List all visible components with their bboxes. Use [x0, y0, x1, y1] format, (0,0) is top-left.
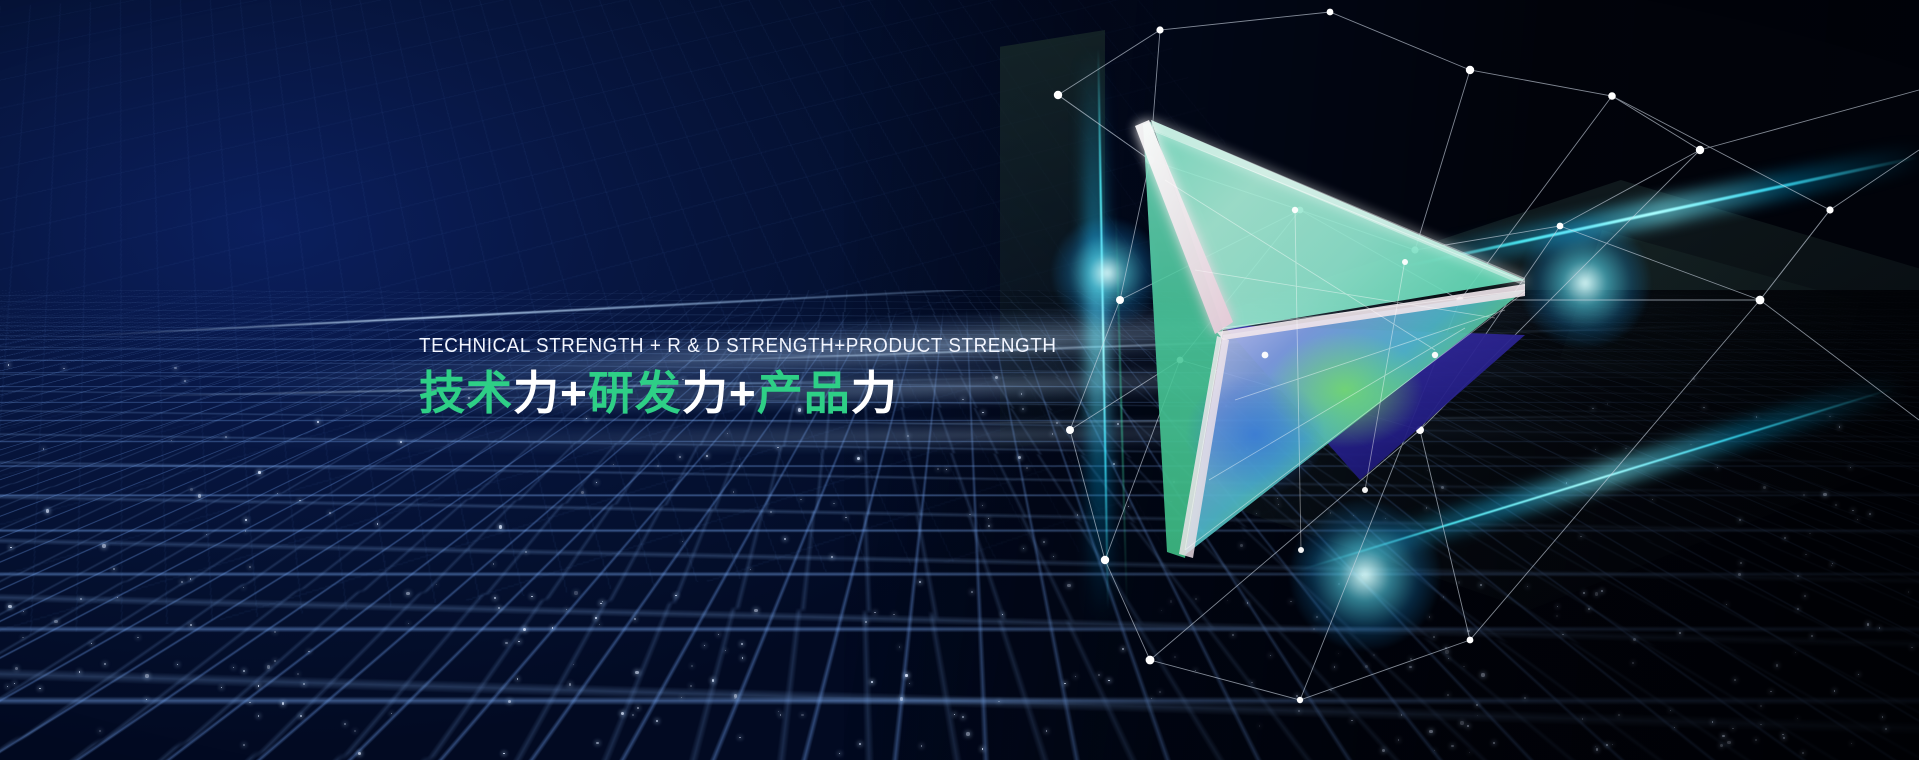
headline-cn-part-4: 力 [682, 367, 729, 419]
hero-banner: TECHNICAL STRENGTH + R & D STRENGTH+PROD… [0, 0, 1919, 760]
play-arrow-prism-graphic [1105, 150, 1525, 600]
headline-chinese: 技术力+研发力+产品力 [419, 366, 1112, 420]
headline-cn-part-1: 力 [513, 367, 560, 419]
headline-cn-part-5: + [729, 367, 757, 419]
headline-english: TECHNICAL STRENGTH + R & D STRENGTH+PROD… [419, 336, 1057, 357]
headline-block: TECHNICAL STRENGTH + R & D STRENGTH+PROD… [419, 336, 1112, 420]
headline-cn-part-2: + [560, 367, 588, 419]
headline-cn-part-3: 研发 [588, 367, 682, 419]
headline-cn-part-0: 技术 [419, 367, 513, 419]
headline-cn-part-6: 产品 [757, 367, 851, 419]
headline-cn-part-7: 力 [851, 367, 898, 419]
